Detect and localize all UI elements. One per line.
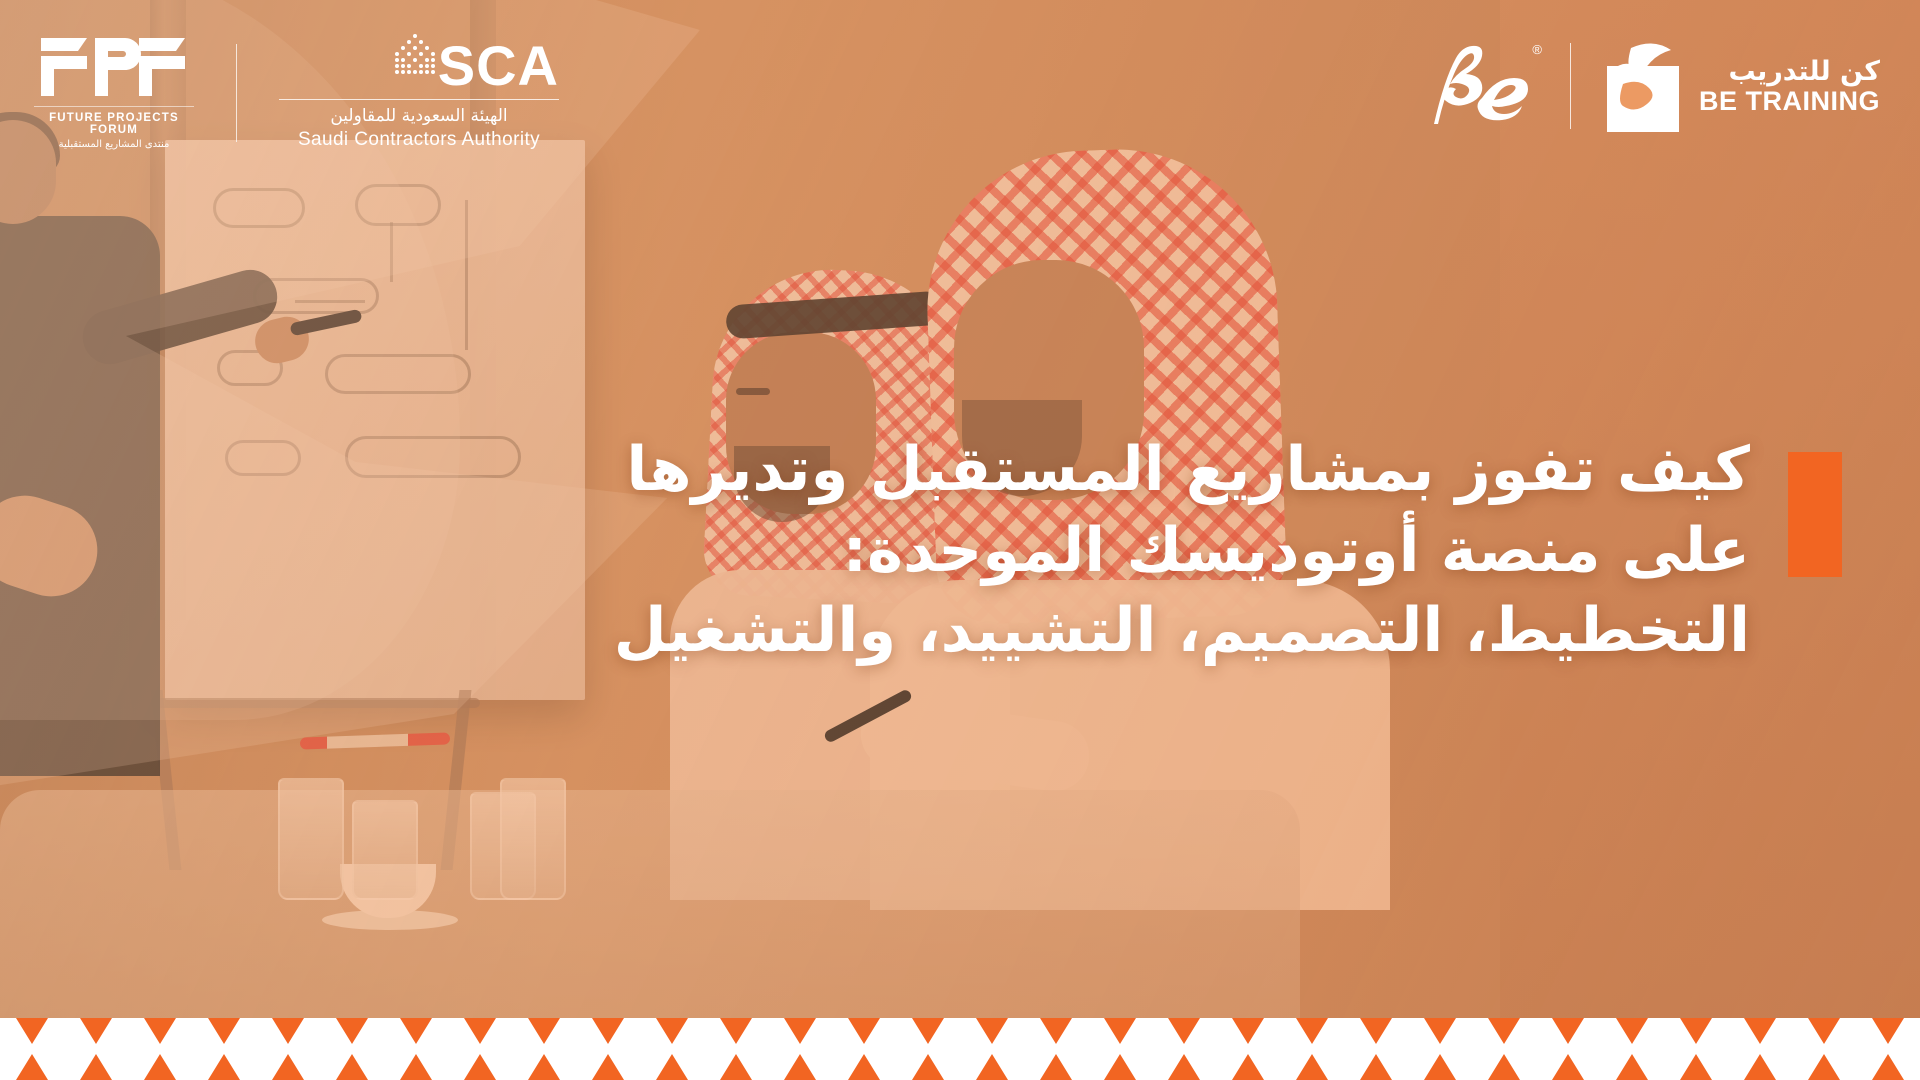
headline-line-2: على منصة أوتوديسك الموحدة: — [520, 511, 1750, 592]
be-script-logo: ® — [1420, 38, 1540, 134]
headline-line-1: كيف تفوز بمشاريع المستقبل وتديرها — [520, 430, 1750, 511]
be-training-logo: كن للتدريب BE TRAINING — [1601, 40, 1880, 132]
sca-arabic-name: الهيئة السعودية للمقاولين — [279, 106, 559, 127]
logo-bar: SCA الهيئة السعودية للمقاولين Saudi Cont… — [0, 34, 1920, 154]
sca-divider-rule — [279, 99, 559, 100]
sca-english-name: Saudi Contractors Authority — [279, 129, 559, 151]
fpf-divider-rule — [34, 106, 194, 107]
orange-accent-bar — [1788, 452, 1842, 577]
fpf-english-name: FUTURE PROJECTS FORUM — [34, 112, 194, 136]
chevron-zigzag-border — [0, 1018, 1920, 1080]
be-training-arabic-name: كن للتدريب — [1699, 56, 1880, 87]
be-script-glyph — [1420, 38, 1540, 134]
headline-block: كيف تفوز بمشاريع المستقبل وتديرها على من… — [520, 430, 1750, 672]
sca-logo: SCA الهيئة السعودية للمقاولين Saudi Cont… — [279, 34, 559, 151]
logo-divider — [1570, 43, 1571, 129]
fpf-geometric-mark — [39, 36, 189, 98]
logos-left-group: SCA الهيئة السعودية للمقاولين Saudi Cont… — [34, 34, 559, 151]
fpf-arabic-name: منتدى المشاريع المستقبلية — [34, 139, 194, 150]
promo-banner: SCA الهيئة السعودية للمقاولين Saudi Cont… — [0, 0, 1920, 1080]
sca-wordmark: SCA — [438, 39, 559, 92]
kun-calligraphy-mark — [1601, 40, 1685, 132]
registered-symbol: ® — [1532, 42, 1542, 57]
headline-line-3: التخطيط، التصميم، التشييد، والتشغيل — [520, 591, 1750, 672]
be-training-english-name: BE TRAINING — [1699, 87, 1880, 117]
fpf-logo: FUTURE PROJECTS FORUM منتدى المشاريع الم… — [34, 36, 194, 150]
dotted-arch-icon — [394, 34, 436, 78]
logos-right-group: كن للتدريب BE TRAINING ® — [1420, 38, 1880, 134]
logo-divider — [236, 44, 237, 142]
